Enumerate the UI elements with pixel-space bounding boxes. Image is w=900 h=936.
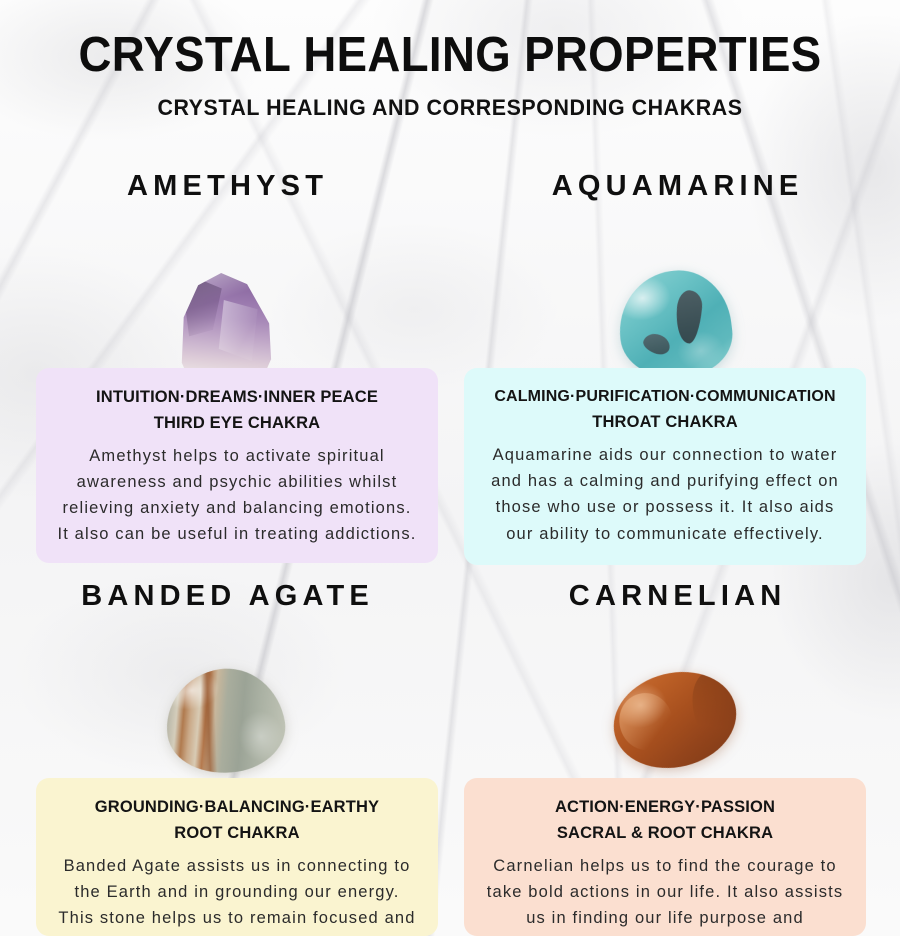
keywords-aquamarine: CALMING·PURIFICATION·COMMUNICATION	[482, 384, 848, 409]
chakra-banded-agate: ROOT CHAKRA	[54, 820, 420, 846]
info-card-carnelian: ACTION·ENERGY·PASSION SACRAL & ROOT CHAK…	[464, 778, 866, 936]
keywords-carnelian: ACTION·ENERGY·PASSION	[482, 794, 848, 820]
crystal-name-amethyst: AMETHYST	[0, 172, 450, 201]
crystal-cell-amethyst: AMETHYST	[0, 172, 450, 371]
crystal-image-banded-agate	[0, 627, 450, 755]
description-carnelian: Carnelian helps us to find the courage t…	[482, 853, 848, 936]
crystal-cell-carnelian: CARNELIAN	[450, 582, 900, 755]
page-subtitle: CRYSTAL HEALING AND CORRESPONDING CHAKRA…	[23, 95, 878, 121]
keywords-amethyst: INTUITION·DREAMS·INNER PEACE	[54, 384, 420, 410]
crystal-name-aquamarine: AQUAMARINE	[450, 172, 900, 201]
crystal-image-amethyst	[0, 223, 450, 371]
chakra-carnelian: SACRAL & ROOT CHAKRA	[482, 820, 848, 846]
banded-agate-crystal-icon	[159, 660, 292, 781]
description-amethyst: Amethyst helps to activate spiritual awa…	[54, 443, 420, 547]
info-card-amethyst: INTUITION·DREAMS·INNER PEACE THIRD EYE C…	[36, 368, 438, 563]
crystal-image-aquamarine	[450, 223, 900, 371]
chakra-aquamarine: THROAT CHAKRA	[482, 409, 848, 435]
info-card-aquamarine: CALMING·PURIFICATION·COMMUNICATION THROA…	[464, 368, 866, 565]
crystal-image-carnelian	[450, 627, 900, 755]
description-banded-agate: Banded Agate assists us in connecting to…	[54, 853, 420, 931]
crystal-name-banded-agate: BANDED AGATE	[0, 582, 450, 611]
page-title: CRYSTAL HEALING PROPERTIES	[32, 30, 869, 81]
infographic-page: CRYSTAL HEALING PROPERTIES CRYSTAL HEALI…	[0, 0, 900, 936]
crystal-name-carnelian: CARNELIAN	[450, 582, 900, 611]
description-aquamarine: Aquamarine aids our connection to water …	[482, 442, 848, 546]
chakra-amethyst: THIRD EYE CHAKRA	[54, 410, 420, 436]
info-card-banded-agate: GROUNDING·BALANCING·EARTHY ROOT CHAKRA B…	[36, 778, 438, 936]
crystal-cell-aquamarine: AQUAMARINE	[450, 172, 900, 371]
crystal-cell-banded-agate: BANDED AGATE	[0, 582, 450, 755]
keywords-banded-agate: GROUNDING·BALANCING·EARTHY	[54, 794, 420, 820]
aquamarine-crystal-icon	[613, 265, 737, 384]
